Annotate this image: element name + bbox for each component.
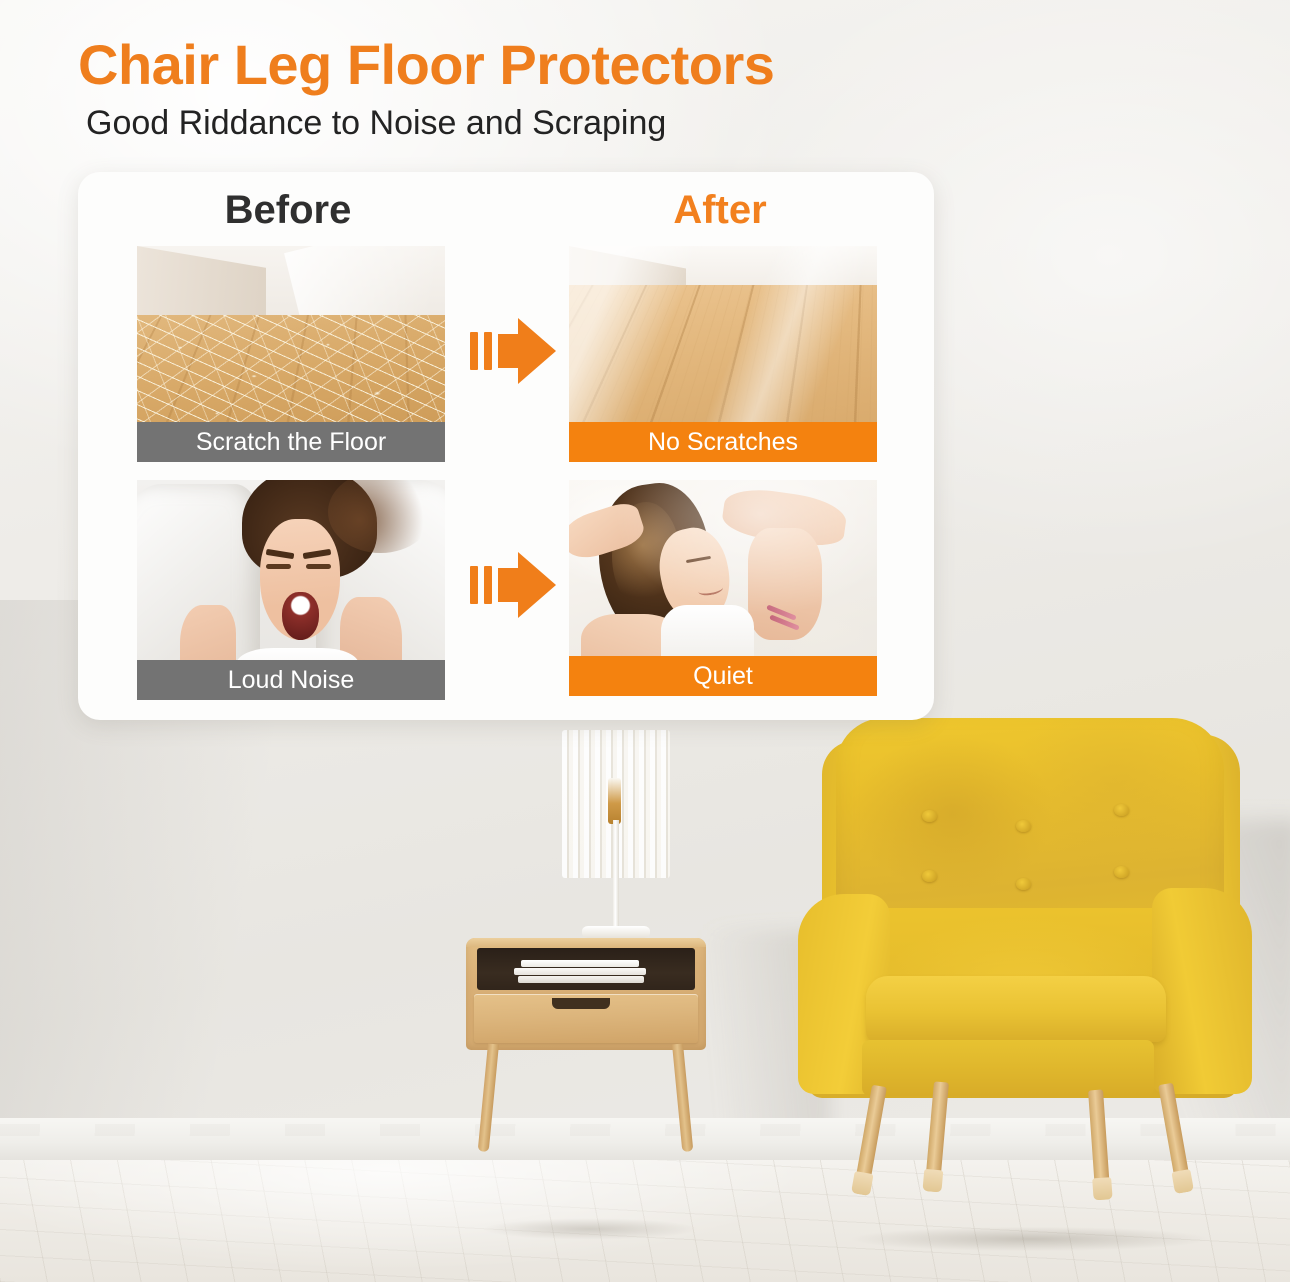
page-title: Chair Leg Floor Protectors: [78, 36, 1078, 95]
nightstand-drawer: [474, 994, 698, 1043]
tufted-button: [922, 810, 937, 822]
caption-scratch-the-floor: Scratch the Floor: [137, 422, 445, 462]
lamp-bulb: [608, 778, 621, 824]
nightstand-floor-shadow: [440, 1214, 740, 1244]
chair-leg-protector-cap: [922, 1169, 943, 1193]
caption-quiet: Quiet: [569, 656, 877, 696]
chair-leg: [853, 1085, 887, 1196]
nightstand-body: [466, 938, 706, 1050]
tufted-button: [1114, 804, 1129, 816]
lamp-base: [582, 926, 650, 938]
table-lamp: [556, 730, 676, 945]
page-subtitle: Good Riddance to Noise and Scraping: [86, 105, 1078, 142]
yellow-armchair: [800, 718, 1270, 1248]
nightstand-leg: [672, 1043, 693, 1152]
book: [521, 960, 639, 967]
caption-no-scratches: No Scratches: [569, 422, 877, 462]
arrow-tip: [518, 552, 556, 618]
arrow-shaft: [498, 334, 520, 368]
drawer-handle: [552, 998, 610, 1009]
column-header-before: Before: [128, 188, 448, 233]
nightstand: [466, 938, 706, 1153]
headline-block: Chair Leg Floor Protectors Good Riddance…: [78, 36, 1078, 142]
chair-arm-right: [1152, 888, 1252, 1094]
nightstand-top: [466, 938, 706, 947]
chair-leg: [1088, 1089, 1111, 1200]
tufted-button: [1016, 878, 1031, 890]
arrow-head: [498, 552, 556, 618]
arrow-right-icon: [470, 552, 556, 618]
caption-loud-noise: Loud Noise: [137, 660, 445, 700]
column-header-after: After: [560, 188, 880, 233]
arrow-shaft: [498, 568, 520, 602]
lamp-stem: [613, 820, 619, 932]
book: [514, 968, 646, 975]
chair-leg-protector-cap: [1171, 1169, 1194, 1194]
arrow-tip: [518, 318, 556, 384]
nightstand-leg: [478, 1043, 499, 1152]
before-after-comparison-card: Before After Scratch the Floor: [78, 172, 934, 720]
arrow-head: [498, 318, 556, 384]
arrow-motion-line: [484, 566, 492, 604]
chair-seat-cushion: [866, 976, 1166, 1042]
book: [518, 976, 644, 983]
arrow-motion-line: [470, 332, 478, 370]
arrow-right-icon: [470, 318, 556, 384]
photo-eye: [306, 564, 331, 568]
product-marketing-image: Chair Leg Floor Protectors Good Riddance…: [0, 0, 1290, 1282]
comparison-column-headers: Before After: [78, 188, 934, 246]
chair-leg-protector-cap: [851, 1171, 874, 1196]
tufted-button: [1114, 866, 1129, 878]
photo-open-mouth: [282, 592, 319, 640]
chair-leg: [1158, 1083, 1192, 1194]
chair-leg-protector-cap: [1092, 1177, 1112, 1200]
arrow-motion-line: [484, 332, 492, 370]
photo-eye: [266, 564, 291, 568]
arrow-motion-line: [470, 566, 478, 604]
tufted-button: [922, 870, 937, 882]
chair-floor-shadow: [780, 1222, 1280, 1256]
tufted-button: [1016, 820, 1031, 832]
chair-base-skirt: [862, 1040, 1154, 1096]
